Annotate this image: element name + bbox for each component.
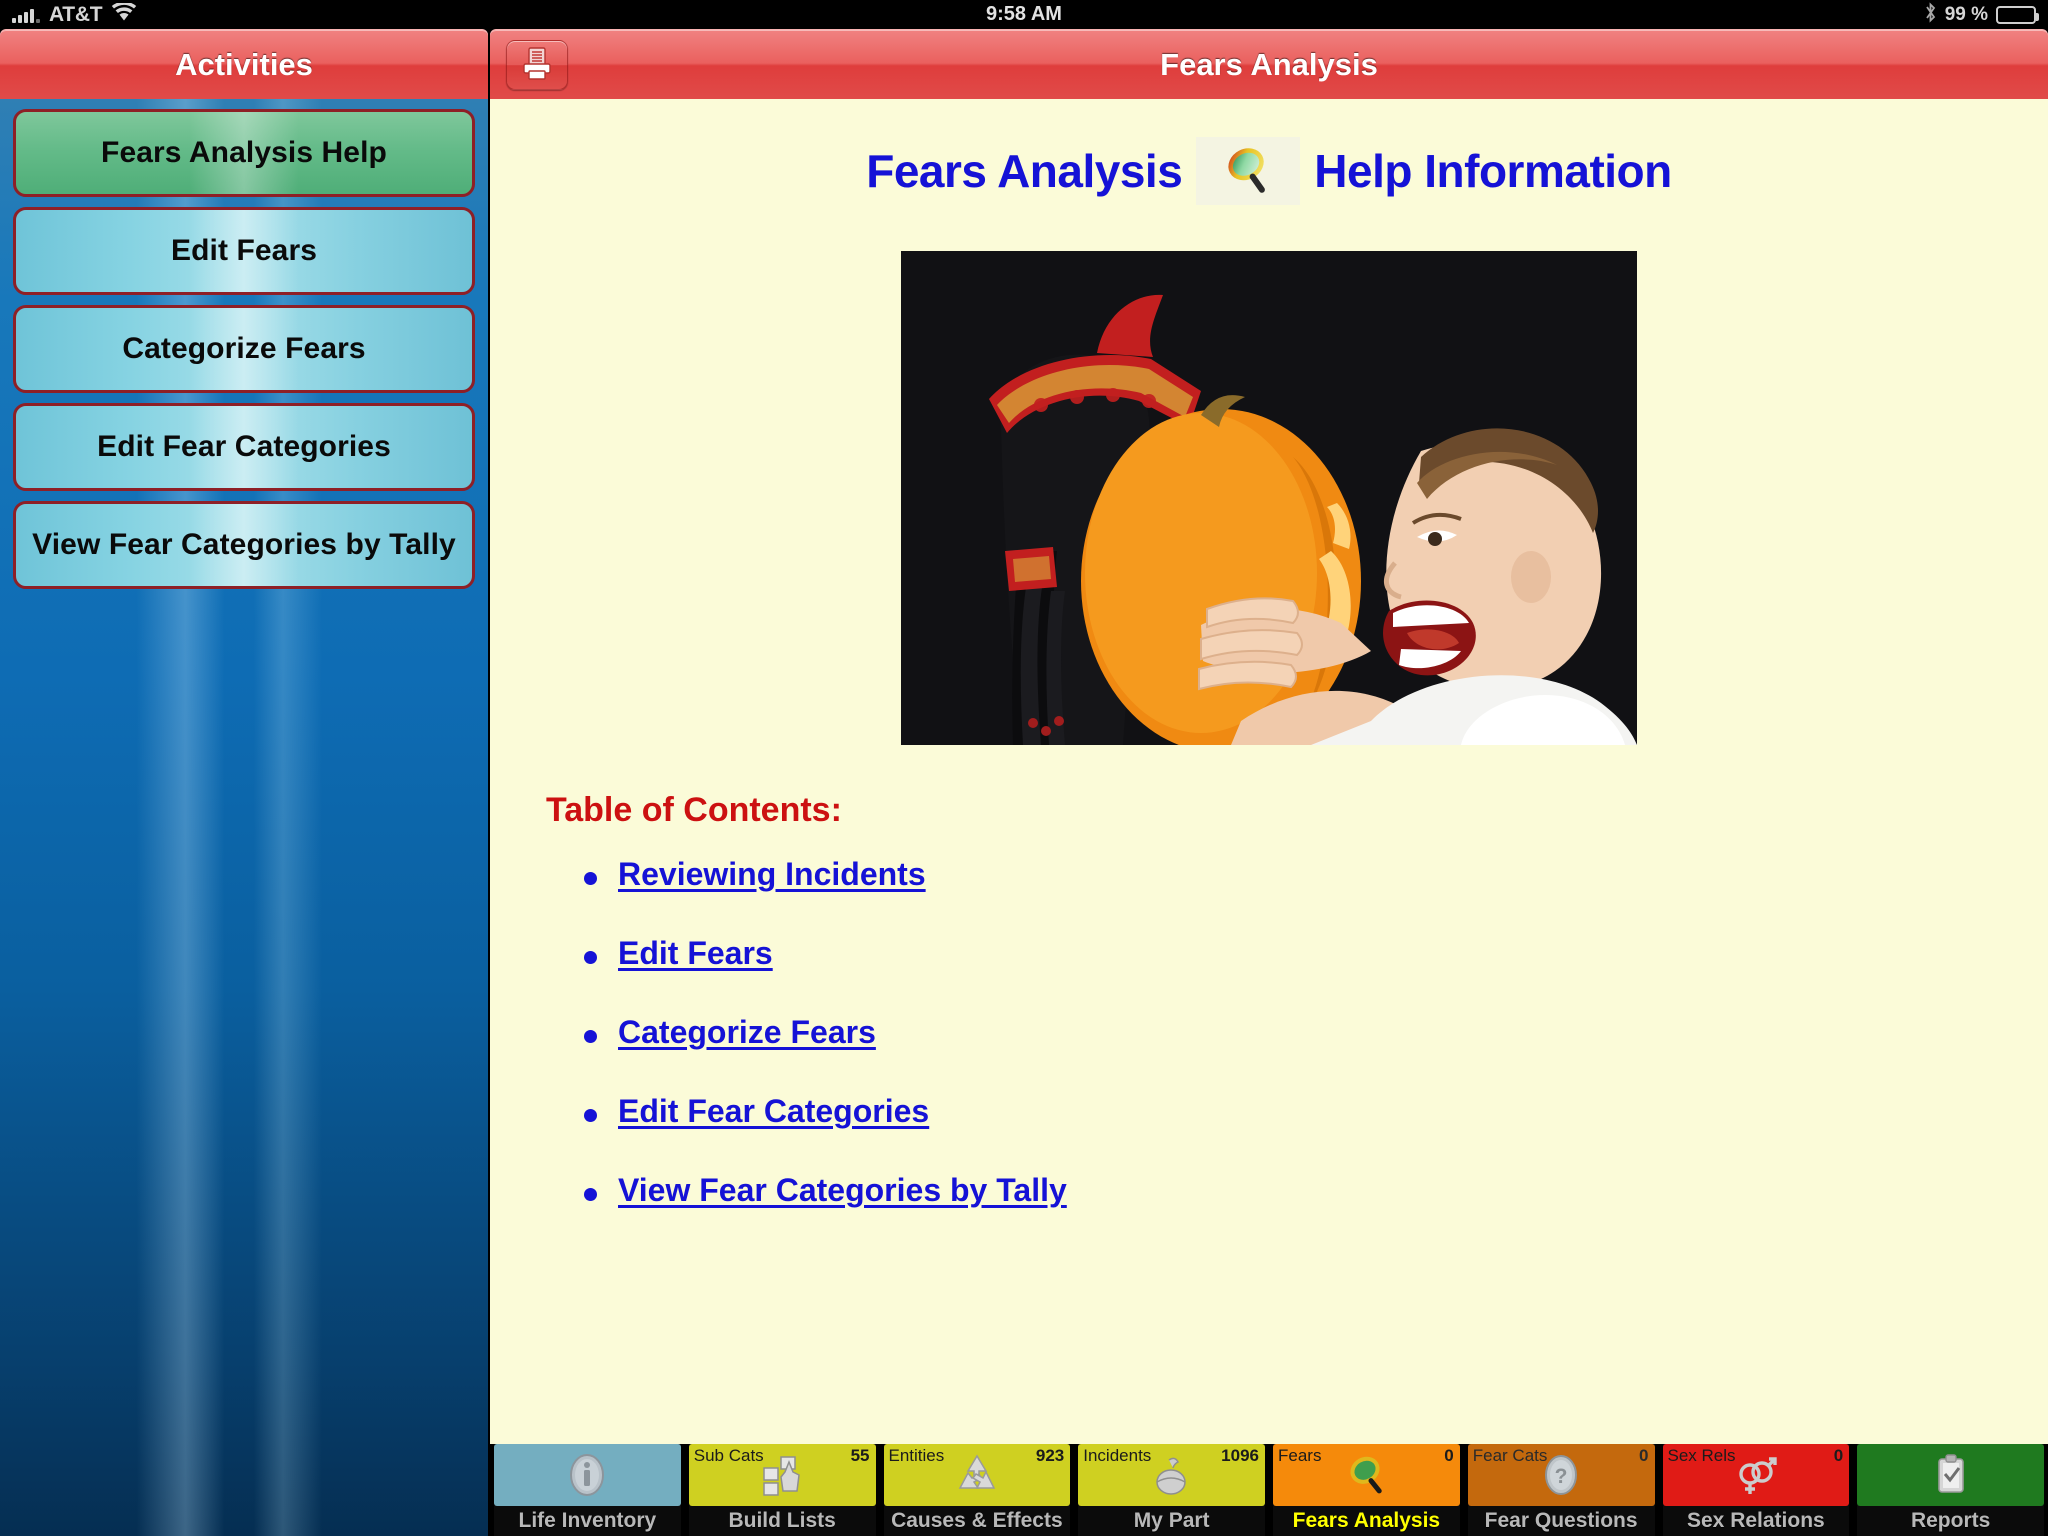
clipboard-icon <box>1928 1452 1974 1498</box>
sidebar-item-label: Edit Fears <box>171 234 317 268</box>
tab-count-label: Fear Cats <box>1473 1446 1548 1466</box>
gender-icon <box>1733 1452 1779 1498</box>
svg-text:?: ? <box>1555 1465 1568 1488</box>
main-title: Fears Analysis <box>1160 47 1378 83</box>
tab-count-label: Incidents <box>1083 1446 1151 1466</box>
tab-count-value: 55 <box>851 1446 870 1466</box>
tab-count-value: 0 <box>1639 1446 1648 1466</box>
activities-list: Fears Analysis Help Edit Fears Categoriz… <box>0 99 488 589</box>
tab-fears-analysis[interactable]: Fears 0 Fears Analysis <box>1269 1444 1464 1536</box>
tab-count-label: Sub Cats <box>694 1446 764 1466</box>
sidebar-item-categorize-fears[interactable]: Categorize Fears <box>13 305 475 393</box>
tab-fear-questions[interactable]: Fear Cats 0 ? Fear Questions <box>1464 1444 1659 1536</box>
page-title: Fears Analysis <box>490 137 2048 205</box>
toc-link-view-fear-categories-by-tally[interactable]: View Fear Categories by Tally <box>618 1172 1067 1208</box>
toc-list: Reviewing Incidents Edit Fears Categoriz… <box>580 856 2048 1209</box>
sidebar-item-edit-fears[interactable]: Edit Fears <box>13 207 475 295</box>
tab-label: My Part <box>1134 1509 1210 1533</box>
toc-item: Reviewing Incidents <box>580 856 2048 893</box>
tab-count-label: Fears <box>1278 1446 1321 1466</box>
sidebar-item-label: Edit Fear Categories <box>97 430 391 464</box>
toc-link-edit-fear-categories[interactable]: Edit Fear Categories <box>618 1093 929 1129</box>
tab-life-inventory[interactable]: Life Inventory <box>490 1444 685 1536</box>
tab-sex-relations[interactable]: Sex Rels 0 Sex Relations <box>1659 1444 1854 1536</box>
tab-label: Fear Questions <box>1485 1509 1638 1533</box>
battery-percent-label: 99 % <box>1945 4 1988 26</box>
status-right: 99 % <box>1924 0 2036 29</box>
tab-reports[interactable]: Reports <box>1853 1444 2048 1536</box>
toc-item: View Fear Categories by Tally <box>580 1172 2048 1209</box>
tab-label: Sex Relations <box>1687 1509 1825 1533</box>
activities-sidebar: Fears Analysis Help Edit Fears Categoriz… <box>0 99 488 1536</box>
sidebar-navbar: Activities <box>0 29 488 99</box>
tab-count-label: Entities <box>889 1446 945 1466</box>
tab-count-value: 0 <box>1834 1446 1843 1466</box>
magnifier-icon <box>1343 1452 1389 1498</box>
tab-build-lists[interactable]: Sub Cats 55 Build Lists <box>685 1444 880 1536</box>
clock-label: 9:58 AM <box>0 0 2048 29</box>
tab-count-label: Sex Rels <box>1668 1446 1736 1466</box>
toc-item: Edit Fear Categories <box>580 1093 2048 1130</box>
toc-link-categorize-fears[interactable]: Categorize Fears <box>618 1014 876 1050</box>
tab-count-value: 0 <box>1444 1446 1453 1466</box>
print-button[interactable] <box>506 40 568 90</box>
sidebar-item-label: View Fear Categories by Tally <box>32 528 456 562</box>
battery-icon <box>1996 6 2036 24</box>
toc-heading: Table of Contents: <box>546 791 2048 830</box>
tab-causes-effects[interactable]: Entities 923 Causes & Effects <box>880 1444 1075 1536</box>
status-bar: AT&T 9:58 AM 99 % <box>0 0 2048 29</box>
tab-bar: Life Inventory Sub Cats 55 Build Lists <box>490 1444 2048 1536</box>
sidebar-item-view-fear-categories-by-tally[interactable]: View Fear Categories by Tally <box>13 501 475 589</box>
help-photo <box>901 251 1637 745</box>
toc-link-reviewing-incidents[interactable]: Reviewing Incidents <box>618 856 926 892</box>
tab-label: Build Lists <box>728 1509 835 1533</box>
toc-item: Edit Fears <box>580 935 2048 972</box>
tab-count-value: 1096 <box>1221 1446 1259 1466</box>
tab-label: Reports <box>1911 1509 1990 1533</box>
tab-label: Causes & Effects <box>891 1509 1063 1533</box>
toc-item: Categorize Fears <box>580 1014 2048 1051</box>
tab-label: Life Inventory <box>519 1509 657 1533</box>
ipad-screen: AT&T 9:58 AM 99 % Activities <box>0 0 2048 1536</box>
tab-label: Fears Analysis <box>1293 1509 1440 1533</box>
page-title-right: Help Information <box>1314 144 1671 198</box>
printer-icon <box>519 46 555 85</box>
tab-count-value: 923 <box>1036 1446 1064 1466</box>
recycle-icon <box>954 1452 1000 1498</box>
sidebar-item-edit-fear-categories[interactable]: Edit Fear Categories <box>13 403 475 491</box>
sidebar-item-label: Categorize Fears <box>122 332 365 366</box>
page-title-left: Fears Analysis <box>866 144 1182 198</box>
magnifier-icon <box>1196 137 1300 205</box>
main-navbar: Fears Analysis <box>490 29 2048 99</box>
lists-icon <box>759 1452 805 1498</box>
help-content-panel[interactable]: Fears Analysis <box>490 99 2048 1536</box>
bluetooth-icon <box>1924 2 1937 28</box>
sidebar-item-fears-analysis-help[interactable]: Fears Analysis Help <box>13 109 475 197</box>
info-icon <box>564 1452 610 1498</box>
sidebar-title: Activities <box>175 47 313 83</box>
tab-my-part[interactable]: Incidents 1096 My Part <box>1074 1444 1269 1536</box>
sidebar-item-label: Fears Analysis Help <box>101 136 387 170</box>
toc-link-edit-fears[interactable]: Edit Fears <box>618 935 773 971</box>
mouse-icon <box>1149 1452 1195 1498</box>
